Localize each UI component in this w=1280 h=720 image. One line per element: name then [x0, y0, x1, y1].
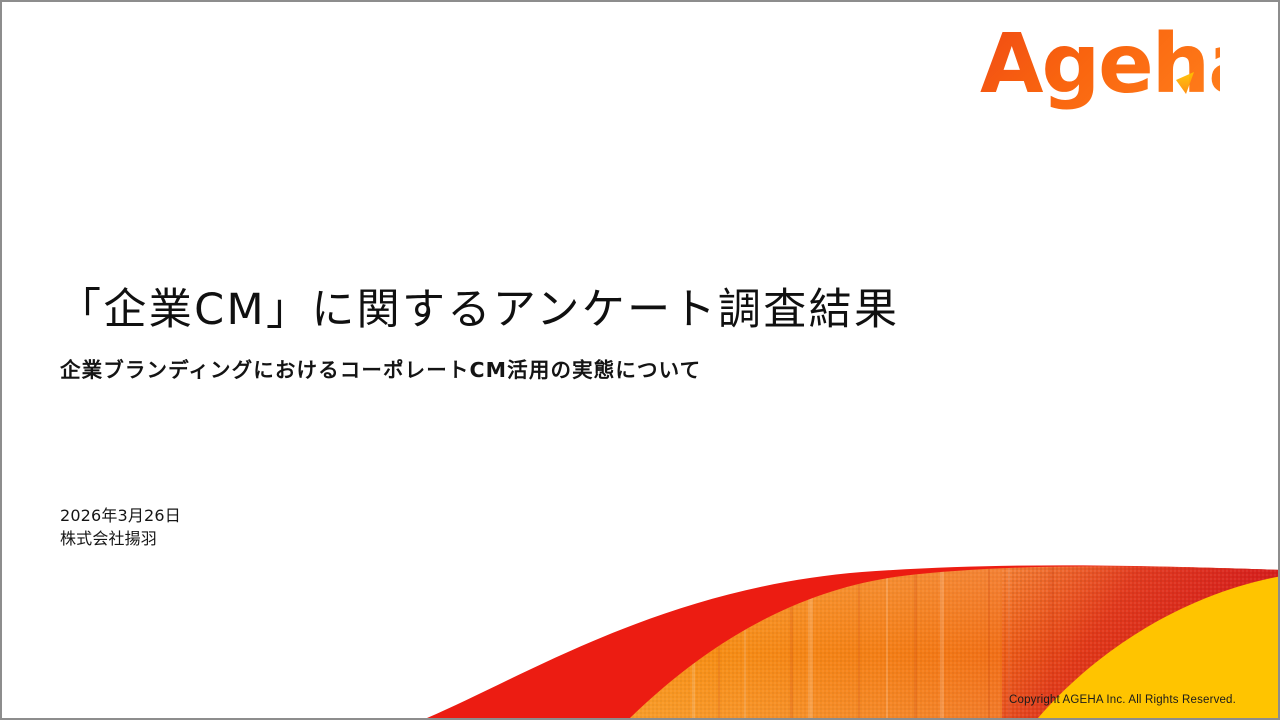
presentation-date: 2026年3月26日 — [60, 505, 181, 528]
page-title: 「企業CM」に関するアンケート調査結果 — [58, 284, 1178, 336]
ageha-logo: Ageha — [980, 20, 1220, 112]
slide-canvas: Ageha 「企業CM」に関するアンケート調査結果 企業ブランディングにおけるコ… — [0, 0, 1280, 720]
page-subtitle: 企業ブランディングにおけるコーポレートCM活用の実態について — [60, 357, 1178, 384]
headline-block: 「企業CM」に関するアンケート調査結果 企業ブランディングにおけるコーポレートC… — [58, 284, 1178, 384]
svg-text:Ageha: Ageha — [980, 20, 1220, 112]
company-name: 株式会社揚羽 — [60, 528, 181, 551]
meta-block: 2026年3月26日 株式会社揚羽 — [60, 505, 181, 550]
copyright-notice: Copyright AGEHA Inc. All Rights Reserved… — [1009, 694, 1236, 706]
